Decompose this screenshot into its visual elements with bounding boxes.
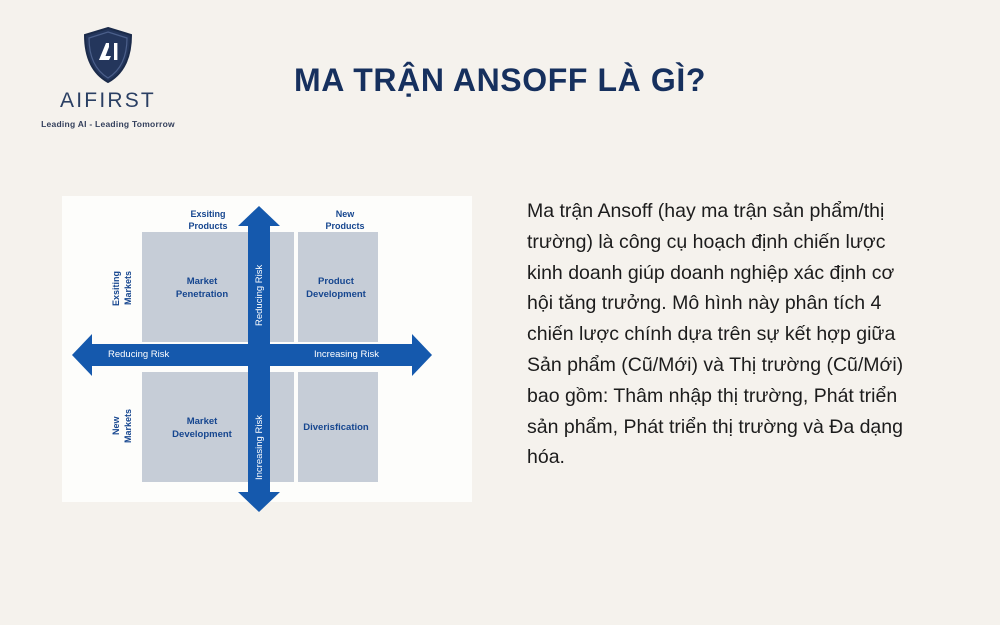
arrow-right-head-icon xyxy=(412,334,432,376)
arrow-left-head-icon xyxy=(72,334,92,376)
arrow-label-increasing-risk-horizontal: Increasing Risk xyxy=(314,349,379,360)
quadrant-label-market-development: Market Development xyxy=(157,416,247,442)
axis-label-new-products: New Products xyxy=(314,208,376,232)
arrow-label-reducing-risk-horizontal: Reducing Risk xyxy=(108,349,169,360)
quadrant-label-diverisfication: Diverisfication xyxy=(290,422,382,435)
logo-tagline: Leading AI - Leading Tomorrow xyxy=(41,119,175,129)
quadrant-label-product-development: Product Development xyxy=(290,276,382,302)
axis-label-exsiting-markets: Exsiting Markets xyxy=(110,254,134,322)
arrow-label-increasing-risk-vertical: Increasing Risk xyxy=(254,384,265,480)
axis-label-exsiting-products: Exsiting Products xyxy=(172,208,244,232)
page-title: MA TRẬN ANSOFF LÀ GÌ? xyxy=(0,62,1000,99)
arrow-label-reducing-risk-vertical: Reducing Risk xyxy=(254,234,265,326)
quadrant-label-market-penetration: Market Penetration xyxy=(157,276,247,302)
body-paragraph: Ma trận Ansoff (hay ma trận sản phẩm/thị… xyxy=(527,196,917,473)
arrow-down-head-icon xyxy=(238,492,280,512)
ansoff-matrix: Exsiting Products New Products Exsiting … xyxy=(62,196,472,502)
ansoff-matrix-card: Exsiting Products New Products Exsiting … xyxy=(62,196,472,502)
axis-label-new-markets: New Markets xyxy=(110,394,134,458)
arrow-up-head-icon xyxy=(238,206,280,226)
